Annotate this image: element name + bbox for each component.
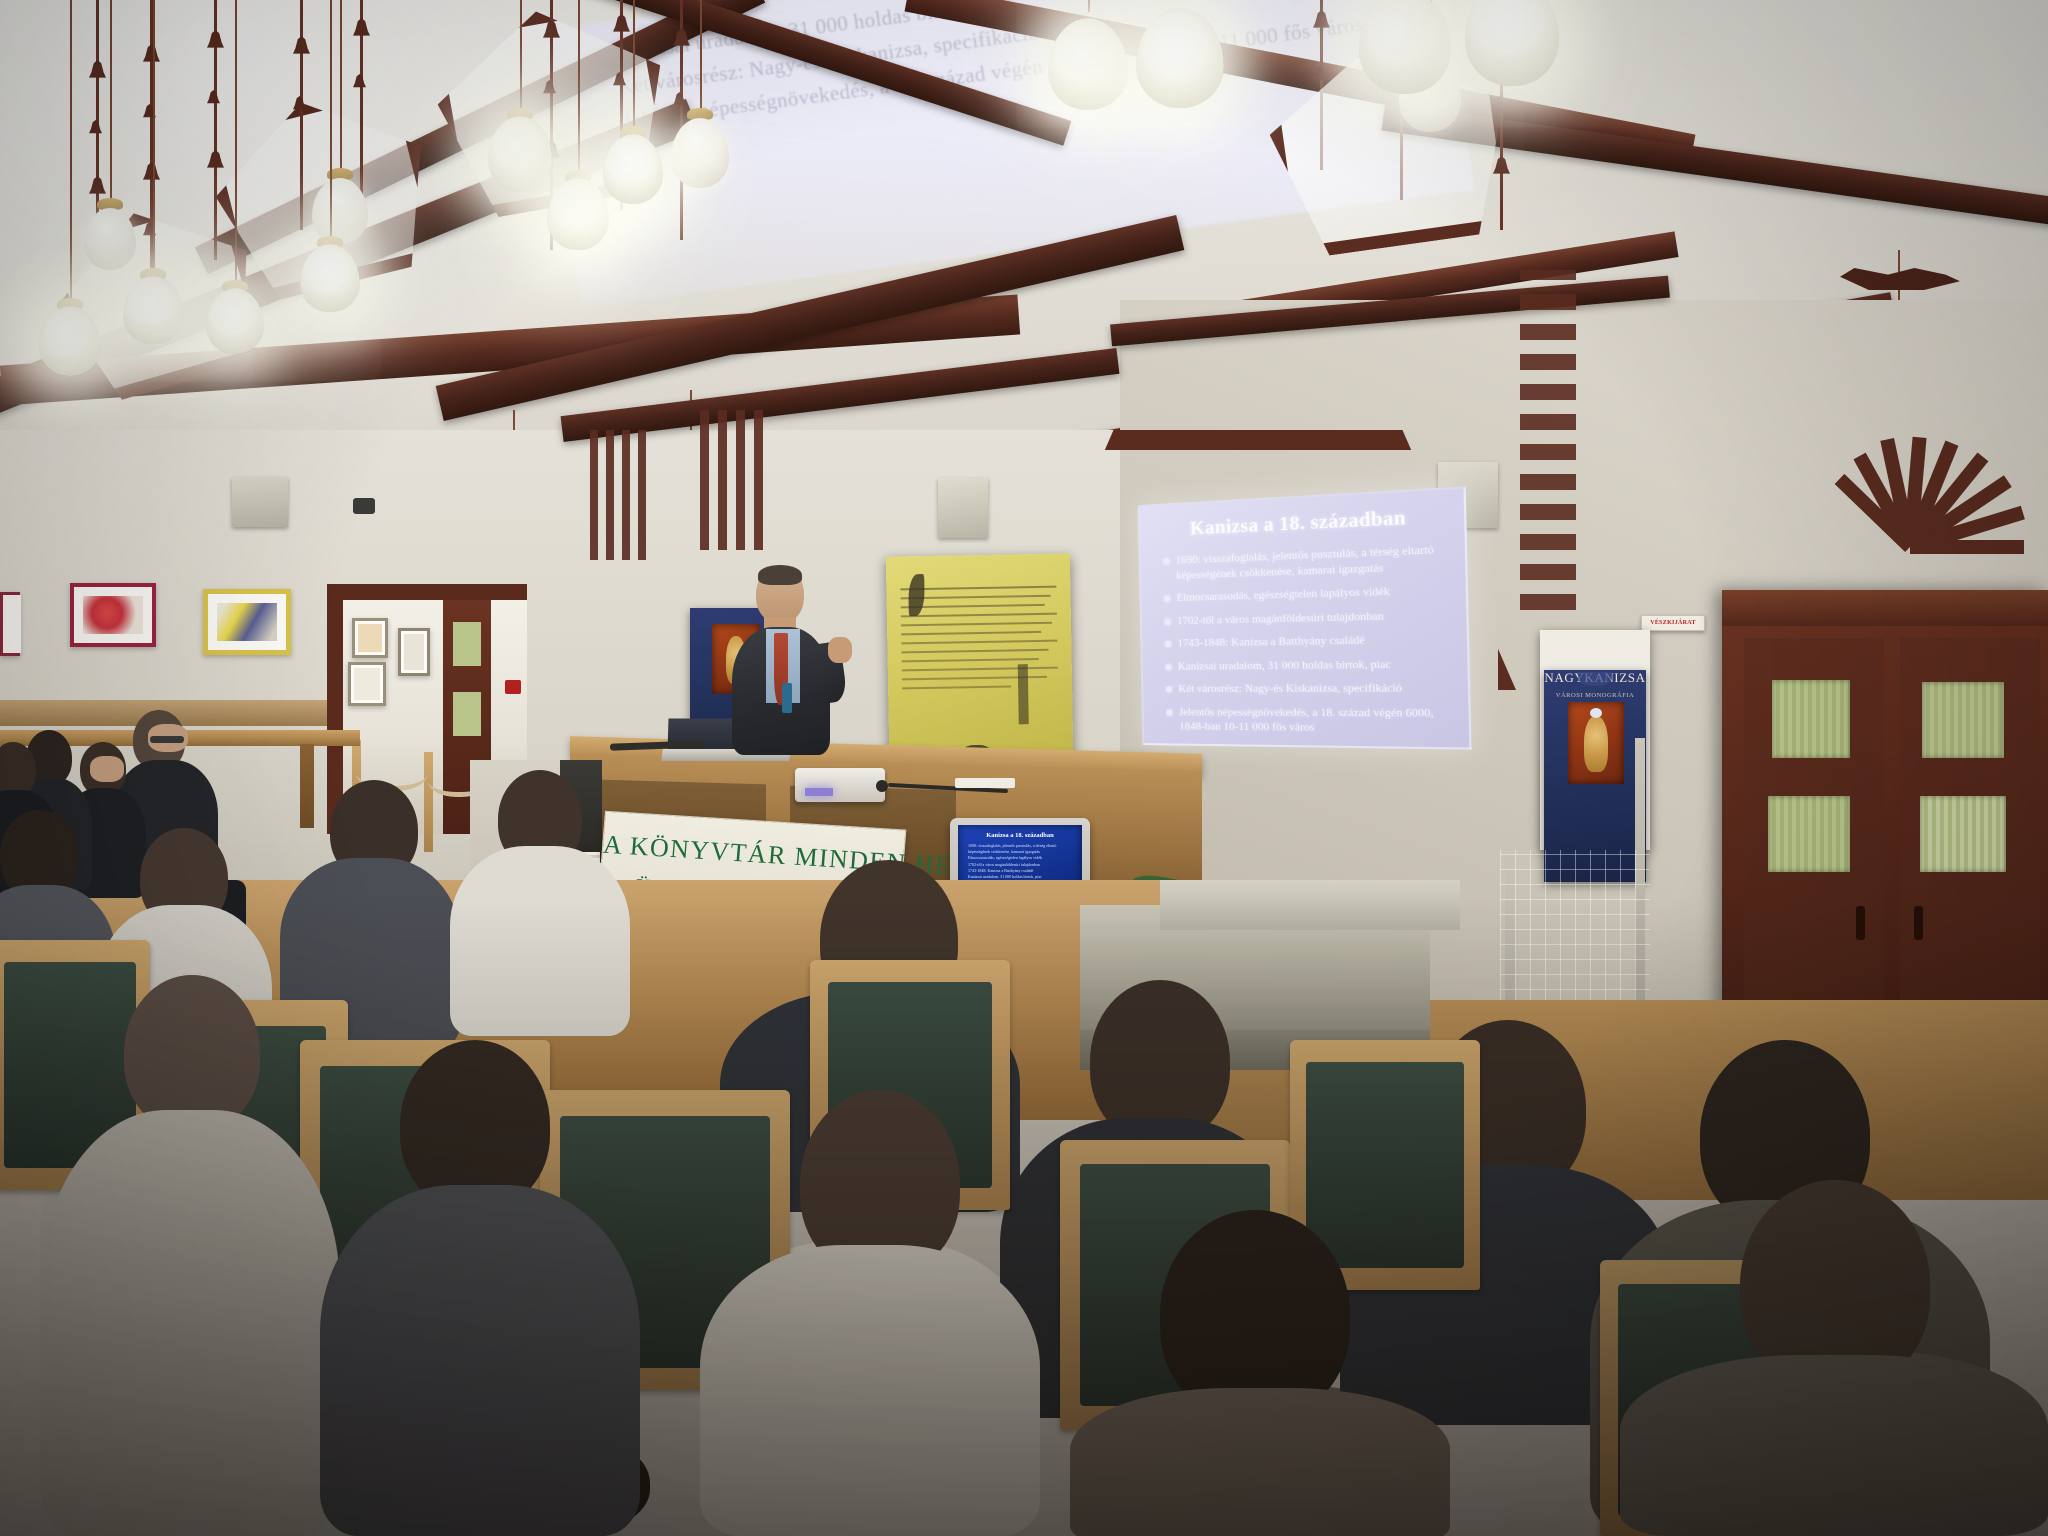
carved-sunburst-ornament — [1800, 380, 2040, 570]
door-curtain-panel — [1920, 796, 2006, 872]
tv-slide-title: Kanizsa a 18. században — [958, 832, 1082, 839]
slide-bullet: Kanizsai uradalom, 31 000 holdas birtok,… — [1166, 656, 1454, 674]
video-projector — [795, 768, 885, 802]
wall-speaker — [232, 477, 288, 527]
emergency-exit-sign: VÉSZKIJÁRAT — [1641, 615, 1705, 631]
carved-panel — [700, 410, 770, 550]
audience-head — [124, 975, 260, 1131]
door-curtain-panel — [1768, 796, 1850, 872]
door-curtain-panel — [1772, 680, 1850, 758]
projector-mount — [353, 498, 375, 514]
cable-connector — [876, 780, 888, 792]
carved-panel — [1520, 270, 1576, 610]
speaker-lanyard — [782, 683, 792, 713]
wall-speaker — [938, 478, 988, 538]
audience-body — [450, 846, 630, 1036]
slide-bullet: Két városrész: Nagy-és Kiskanizsa, speci… — [1166, 681, 1454, 697]
audience-face — [90, 756, 124, 782]
slide-bullet: Elmocsarasodás, egészségtelen lapályos v… — [1165, 582, 1452, 606]
painting-red-flowers — [70, 583, 156, 647]
exit-sign-label: VÉSZKIJÁRAT — [1650, 620, 1696, 626]
hall-painting — [352, 618, 388, 658]
table-leg — [300, 744, 314, 828]
slide-bullet: 1690: visszafoglalás, jelentős pusztulás… — [1164, 542, 1452, 583]
poster-frame: NAGYKANIZSA VÁROSI MONOGRÁFIA II. — [1540, 630, 1650, 850]
eyeglasses — [150, 736, 184, 743]
lecture-hall-photo: Kanizsai uradalom, 31 000 holdas birtok,… — [0, 0, 2048, 1536]
slide-surface: Kanizsa a 18. században 1690: visszafogl… — [1138, 486, 1472, 749]
radiator — [1160, 880, 1460, 930]
door-handle[interactable] — [1856, 906, 1865, 940]
paper-sheet — [955, 778, 1015, 788]
audience-body — [700, 1245, 1040, 1536]
carved-panel — [590, 430, 650, 560]
poster-subtitle: VÁROSI MONOGRÁFIA — [1544, 692, 1646, 699]
slide-title: Kanizsa a 18. században — [1151, 505, 1450, 543]
fire-alarm[interactable] — [505, 680, 521, 694]
audience-body — [1070, 1388, 1450, 1536]
speaker-hand — [828, 637, 852, 663]
hall-painting — [348, 662, 386, 706]
slide-bullet: 1743-1848: Kanizsa a Batthyány családé — [1166, 631, 1454, 651]
speaker-presenter — [718, 565, 848, 755]
painting-lemons-pitcher — [203, 589, 291, 655]
door-handle[interactable] — [1914, 906, 1923, 940]
slide-bullet: 1702-től a város magánföldesúri tulajdon… — [1165, 607, 1452, 629]
audience-body — [40, 1110, 340, 1536]
door-lintel — [1722, 590, 2048, 626]
audience-body — [1620, 1355, 2048, 1536]
door-curtain-panel — [1922, 682, 2004, 758]
speaker-head — [756, 565, 804, 623]
painting-edge — [0, 592, 20, 656]
projection-screen: Kanizsa a 18. században 1690: visszafogl… — [1138, 486, 1472, 749]
hall-painting — [398, 628, 430, 676]
audience-body — [320, 1185, 640, 1536]
slide-bullet: Jelentős népességnövekedés, a 18. század… — [1167, 705, 1455, 737]
